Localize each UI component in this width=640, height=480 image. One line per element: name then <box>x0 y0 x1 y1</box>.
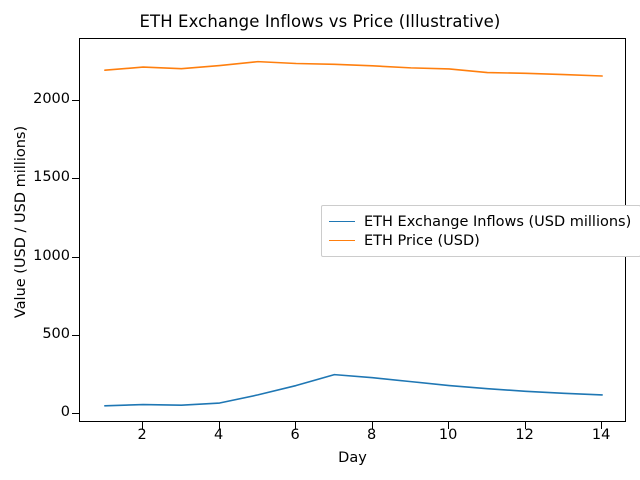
x-tick-mark <box>525 422 526 429</box>
y-tick-mark <box>72 100 79 101</box>
legend-label-series-2: ETH Price (USD) <box>364 233 480 249</box>
x-tick-label: 4 <box>199 428 239 443</box>
x-tick-mark <box>372 422 373 429</box>
x-tick-mark <box>601 422 602 429</box>
y-tick-mark <box>72 178 79 179</box>
y-tick-mark <box>72 257 79 258</box>
y-axis-tick-labels: 0500100015002000 <box>0 0 70 480</box>
x-tick-label: 12 <box>505 428 545 443</box>
x-tick-label: 2 <box>122 428 162 443</box>
chart-legend: ETH Exchange Inflows (USD millions) ETH … <box>321 205 640 257</box>
x-tick-label: 10 <box>428 428 468 443</box>
x-tick-mark <box>295 422 296 429</box>
x-axis-label: Day <box>79 450 626 466</box>
x-tick-label: 8 <box>352 428 392 443</box>
legend-swatch-series-1 <box>329 221 355 222</box>
line-eth-price <box>105 62 602 76</box>
legend-item: ETH Price (USD) <box>329 231 631 250</box>
legend-item: ETH Exchange Inflows (USD millions) <box>329 212 631 231</box>
x-tick-label: 6 <box>275 428 315 443</box>
x-tick-mark <box>448 422 449 429</box>
line-eth-exchange-inflows <box>105 375 602 406</box>
x-tick-label: 14 <box>581 428 621 443</box>
y-tick-label: 0 <box>5 405 70 419</box>
y-axis-label: Value (USD / USD millions) <box>13 97 29 347</box>
chart-title: ETH Exchange Inflows vs Price (Illustrat… <box>0 12 640 31</box>
y-tick-mark <box>72 335 79 336</box>
y-tick-mark <box>72 413 79 414</box>
legend-swatch-series-2 <box>329 240 355 241</box>
matplotlib-figure: ETH Exchange Inflows vs Price (Illustrat… <box>0 0 640 480</box>
x-tick-mark <box>219 422 220 429</box>
x-tick-mark <box>142 422 143 429</box>
legend-label-series-1: ETH Exchange Inflows (USD millions) <box>364 214 631 230</box>
